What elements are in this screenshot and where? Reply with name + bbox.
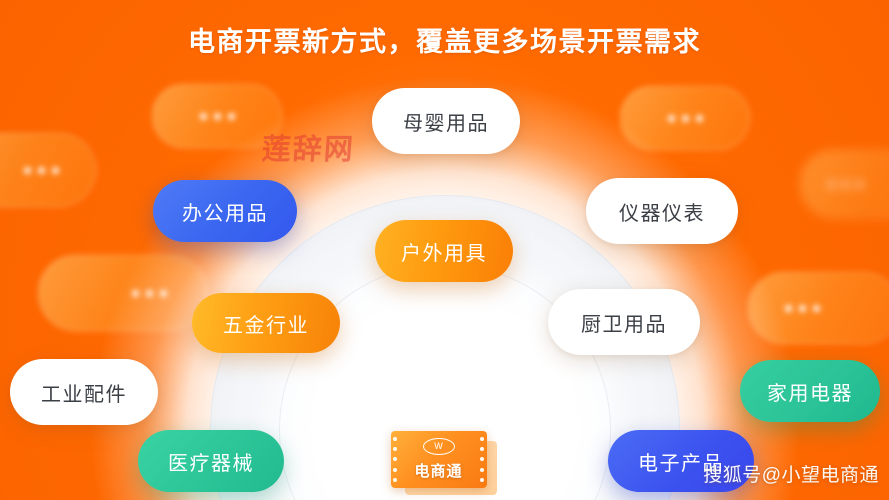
category-label: 户外用具 — [401, 237, 487, 266]
category-label: 家用电器 — [767, 377, 853, 406]
ellipsis-icon — [785, 305, 820, 312]
deco-top-left — [152, 84, 282, 148]
category-label: 五金行业 — [223, 309, 309, 338]
category-pill-medical[interactable]: 医疗器械 — [138, 430, 284, 492]
deco-left-lower — [38, 255, 208, 331]
deco-top-right — [620, 86, 750, 150]
category-pill-kitchenbath[interactable]: 厨卫用品 — [548, 289, 700, 355]
center-logo[interactable]: W 电商通 — [389, 427, 501, 497]
category-label: 医疗器械 — [168, 447, 254, 476]
ellipsis-icon — [200, 113, 235, 120]
ellipsis-icon — [132, 290, 167, 297]
ellipsis-icon — [828, 181, 863, 188]
category-label: 厨卫用品 — [581, 308, 667, 337]
deco-left-upper — [0, 133, 96, 207]
logo-emblem-icon: W — [423, 438, 455, 455]
watermark-site: 莲辞网 — [261, 126, 357, 168]
category-pill-instruments[interactable]: 仪器仪表 — [586, 178, 738, 244]
category-label: 工业配件 — [41, 378, 127, 407]
category-label: 电子产品 — [638, 447, 724, 476]
category-pill-hardware[interactable]: 五金行业 — [192, 293, 340, 353]
category-pill-appliance[interactable]: 家用电器 — [740, 360, 880, 422]
category-pill-industrial[interactable]: 工业配件 — [10, 359, 158, 425]
logo-brand-text: 电商通 — [391, 460, 487, 481]
category-pill-outdoor[interactable]: 户外用具 — [375, 220, 513, 282]
ellipsis-icon — [668, 115, 703, 122]
category-pill-office[interactable]: 办公用品 — [153, 180, 297, 242]
deco-right-lower — [748, 272, 889, 344]
deco-right-mid — [800, 150, 889, 218]
poster-canvas: 电商开票新方式，覆盖更多场景开票需求 莲辞网 母婴用品 仪器仪表 办公用品 户外… — [0, 0, 889, 500]
logo-card-front: W 电商通 — [391, 431, 487, 488]
ellipsis-icon — [24, 167, 59, 174]
category-label: 母婴用品 — [403, 107, 489, 136]
category-pill-electronics[interactable]: 电子产品 — [608, 430, 754, 492]
category-label: 办公用品 — [182, 197, 268, 226]
category-label: 仪器仪表 — [619, 197, 705, 226]
page-title: 电商开票新方式，覆盖更多场景开票需求 — [0, 20, 889, 59]
category-pill-maternity[interactable]: 母婴用品 — [372, 88, 520, 154]
